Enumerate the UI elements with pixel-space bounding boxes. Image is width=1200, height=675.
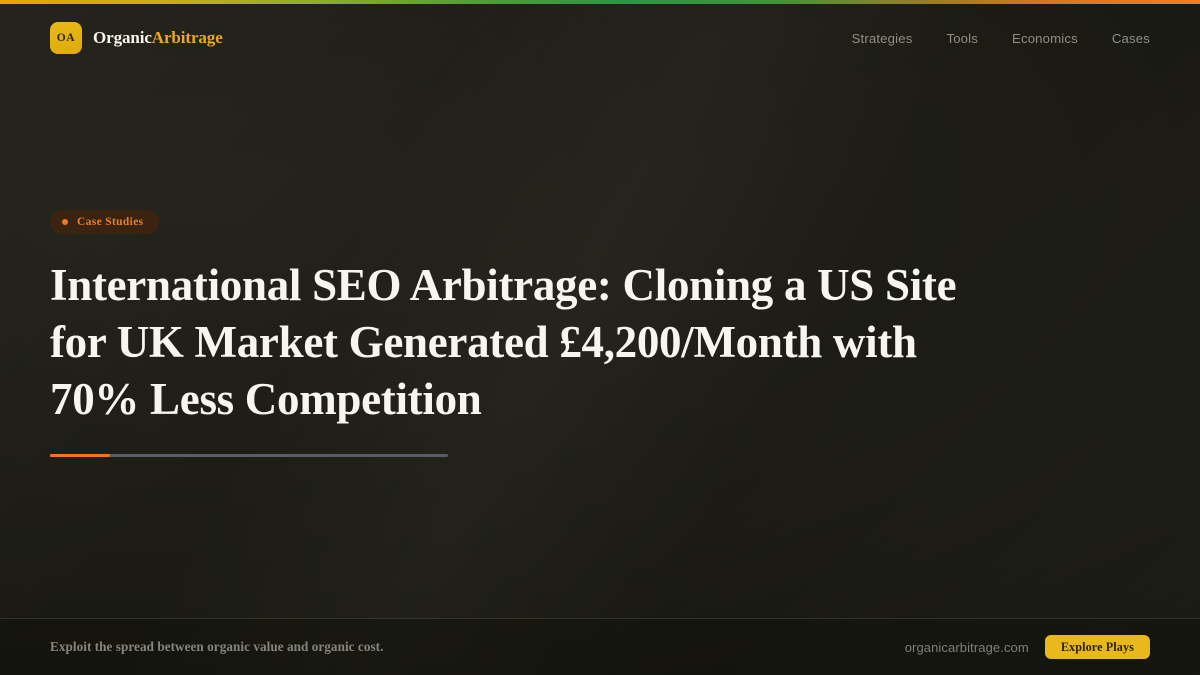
nav-item-strategies[interactable]: Strategies: [852, 31, 913, 46]
footer-actions: organicarbitrage.com Explore Plays: [905, 635, 1150, 659]
badge-dot-icon: [62, 219, 68, 225]
category-badge[interactable]: Case Studies: [50, 210, 159, 234]
category-badge-label: Case Studies: [77, 216, 144, 228]
nav-item-cases[interactable]: Cases: [1112, 31, 1150, 46]
hero-section: Case Studies International SEO Arbitrage…: [50, 210, 1060, 457]
footer-tagline: Exploit the spread between organic value…: [50, 639, 383, 655]
nav-item-economics[interactable]: Economics: [1012, 31, 1078, 46]
brand-name-accent: Arbitrage: [152, 28, 223, 47]
site-header: OA OrganicArbitrage Strategies Tools Eco…: [0, 4, 1200, 72]
title-divider-rule: [50, 454, 448, 457]
brand-logo[interactable]: OA OrganicArbitrage: [50, 22, 223, 54]
brand-mark-icon: OA: [50, 22, 82, 54]
explore-plays-button[interactable]: Explore Plays: [1045, 635, 1150, 659]
footer-domain-label: organicarbitrage.com: [905, 640, 1029, 655]
main-navigation: Strategies Tools Economics Cases: [852, 31, 1150, 46]
top-accent-gradient-bar: [0, 0, 1200, 4]
brand-name-primary: Organic: [93, 28, 152, 47]
page-title: International SEO Arbitrage: Cloning a U…: [50, 257, 1010, 428]
nav-item-tools[interactable]: Tools: [946, 31, 978, 46]
site-footer: Exploit the spread between organic value…: [0, 618, 1200, 675]
brand-wordmark: OrganicArbitrage: [93, 28, 223, 48]
